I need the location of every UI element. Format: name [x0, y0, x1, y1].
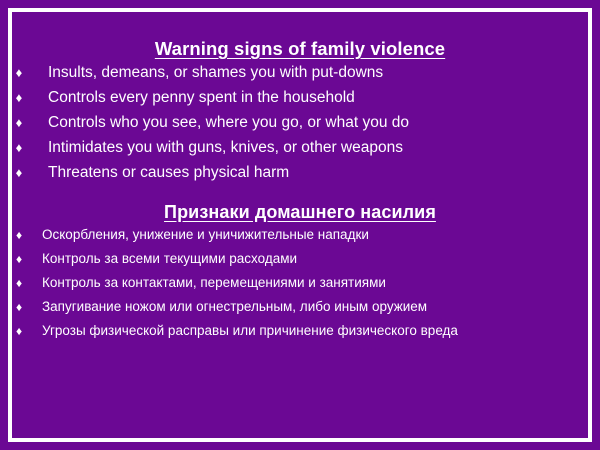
list-item: ♦ Insults, demeans, or shames you with p…	[12, 60, 588, 85]
diamond-bullet-icon: ♦	[12, 223, 26, 247]
diamond-bullet-icon: ♦	[12, 295, 26, 319]
diamond-bullet-icon: ♦	[12, 247, 26, 271]
diamond-bullet-icon: ♦	[12, 85, 26, 110]
russian-warning-signs-list: ♦ Оскорбления, унижение и уничижительные…	[12, 223, 588, 343]
list-item: ♦ Запугивание ножом или огнестрельным, л…	[12, 295, 588, 319]
poster: Warning signs of family violence ♦ Insul…	[0, 0, 600, 450]
list-item: ♦ Threatens or causes physical harm	[12, 160, 588, 185]
diamond-bullet-icon: ♦	[12, 110, 26, 135]
list-item: ♦ Intimidates you with guns, knives, or …	[12, 135, 588, 160]
list-item: ♦ Угрозы физической расправы или причине…	[12, 319, 588, 343]
diamond-bullet-icon: ♦	[12, 135, 26, 160]
diamond-bullet-icon: ♦	[12, 271, 26, 295]
russian-section-title: Признаки домашнего насилия	[12, 202, 588, 223]
english-warning-signs-list: ♦ Insults, demeans, or shames you with p…	[12, 60, 588, 185]
list-item: ♦ Controls who you see, where you go, or…	[12, 110, 588, 135]
poster-border-frame: Warning signs of family violence ♦ Insul…	[8, 8, 592, 442]
list-item-text: Threatens or causes physical harm	[48, 160, 588, 185]
list-item: ♦ Контроль за всеми текущими расходами	[12, 247, 588, 271]
list-item-text: Контроль за контактами, перемещениями и …	[42, 271, 510, 295]
list-item-text: Угрозы физической расправы или причинени…	[42, 319, 510, 343]
list-item: ♦ Controls every penny spent in the hous…	[12, 85, 588, 110]
list-item-text: Intimidates you with guns, knives, or ot…	[48, 135, 588, 160]
list-item-text: Controls every penny spent in the househ…	[48, 85, 588, 110]
english-section-title: Warning signs of family violence	[12, 38, 588, 60]
list-item-text: Insults, demeans, or shames you with put…	[48, 60, 588, 85]
list-item-text: Запугивание ножом или огнестрельным, либ…	[42, 295, 510, 319]
list-item: ♦ Оскорбления, унижение и уничижительные…	[12, 223, 588, 247]
list-item: ♦ Контроль за контактами, перемещениями …	[12, 271, 588, 295]
diamond-bullet-icon: ♦	[12, 160, 26, 185]
list-item-text: Controls who you see, where you go, or w…	[48, 110, 588, 135]
diamond-bullet-icon: ♦	[12, 60, 26, 85]
list-item-text: Оскорбления, унижение и уничижительные н…	[42, 223, 510, 247]
poster-content: Warning signs of family violence ♦ Insul…	[12, 12, 588, 438]
list-item-text: Контроль за всеми текущими расходами	[42, 247, 510, 271]
diamond-bullet-icon: ♦	[12, 319, 26, 343]
